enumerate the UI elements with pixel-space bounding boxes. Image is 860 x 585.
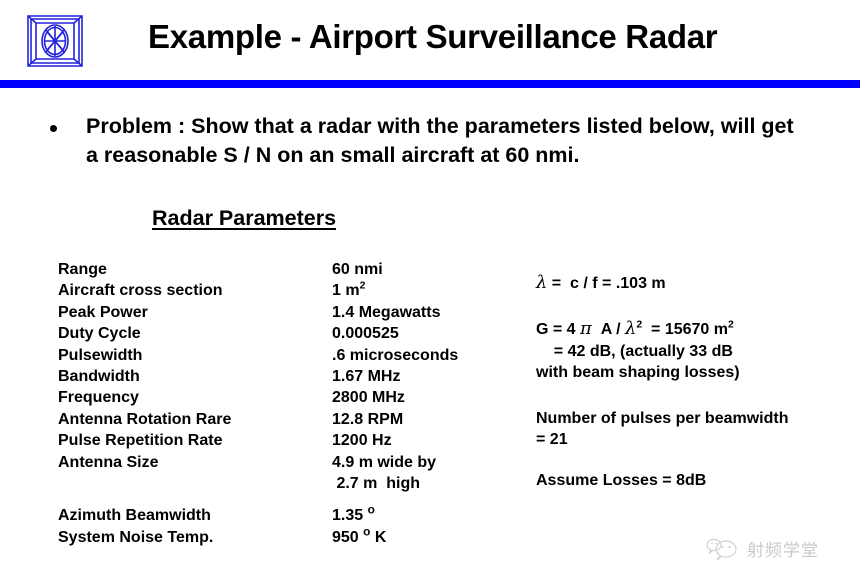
param-value: 950 o K [332, 527, 508, 548]
param-label: Antenna Rotation Rare [58, 409, 332, 430]
assumed-losses-note: Assume Losses = 8dB [536, 470, 858, 491]
watermark-label: 射频学堂 [747, 536, 819, 561]
gain-line1-pre: G = 4 [536, 321, 580, 338]
table-row: Antenna Size 4.9 m wide by [58, 452, 508, 473]
table-row: Frequency 2800 MHz [58, 387, 508, 408]
param-value-text: 950 [332, 529, 363, 546]
table-row: Pulsewidth .6 microseconds [58, 345, 508, 366]
lambda-symbol: λ [625, 318, 636, 339]
param-value: 1.35 o [332, 505, 508, 526]
wavelength-equation-text: = c / f = .103 m [547, 275, 665, 292]
calc-gap [536, 450, 858, 470]
gain-equation: G = 4 π A / λ2 = 15670 m2 [536, 318, 858, 340]
bullet-marker [50, 125, 57, 132]
param-value: 4.9 m wide by [332, 452, 508, 473]
param-label [58, 473, 332, 494]
table-row: Bandwidth 1.67 MHz [58, 366, 508, 387]
gain-unit-superscript: 2 [728, 320, 734, 331]
table-row: Aircraft cross section 1 m2 [58, 280, 508, 301]
pi-symbol: π [580, 318, 592, 339]
spacer-cell [332, 494, 508, 505]
calc-gap [536, 384, 858, 408]
table-row: Pulse Repetition Rate 1200 Hz [58, 430, 508, 451]
gain-line1-post: = 15670 m [642, 321, 728, 338]
param-value: 1.4 Megawatts [332, 302, 508, 323]
param-value: .6 microseconds [332, 345, 508, 366]
param-value-text: 1.35 [332, 507, 368, 524]
param-value: 60 nmi [332, 259, 508, 280]
degree-symbol: o [368, 503, 375, 517]
wechat-bubble-icon [706, 537, 740, 561]
param-label: Pulse Repetition Rate [58, 430, 332, 451]
slide-header: Example - Airport Surveillance Radar [0, 0, 860, 80]
calculations-column: λ = c / f = .103 m G = 4 π A / λ2 = 1567… [536, 272, 858, 492]
param-label: Range [58, 259, 332, 280]
page-title: Example - Airport Surveillance Radar [148, 18, 717, 56]
watermark: 射频学堂 [706, 536, 819, 561]
param-label: Bandwidth [58, 366, 332, 387]
param-value-superscript: 2 [360, 281, 366, 292]
lambda-symbol: λ [536, 272, 547, 293]
spacer-cell [58, 494, 332, 505]
param-label: Pulsewidth [58, 345, 332, 366]
param-label: Peak Power [58, 302, 332, 323]
param-label: Azimuth Beamwidth [58, 505, 332, 526]
table-row-continuation: 2.7 m high [58, 473, 508, 494]
gain-equation-line2: = 42 dB, (actually 33 dB [536, 341, 858, 362]
problem-statement-text: Problem : Show that a radar with the par… [86, 112, 806, 170]
table-spacer-row [58, 494, 508, 505]
radar-parameters-table: Range 60 nmi Aircraft cross section 1 m2… [58, 259, 508, 548]
table-row: Peak Power 1.4 Megawatts [58, 302, 508, 323]
calc-gap [536, 294, 858, 318]
gain-line1-mid: A / [592, 321, 625, 338]
param-value-tail: K [370, 529, 386, 546]
param-value: 1 m2 [332, 280, 508, 301]
param-label: System Noise Temp. [58, 527, 332, 548]
table-row: Duty Cycle 0.000525 [58, 323, 508, 344]
table-row: Range 60 nmi [58, 259, 508, 280]
table-row: Antenna Rotation Rare 12.8 RPM [58, 409, 508, 430]
param-label: Aircraft cross section [58, 280, 332, 301]
table-row: Azimuth Beamwidth 1.35 o [58, 505, 508, 526]
param-value: 1200 Hz [332, 430, 508, 451]
param-value: 1.67 MHz [332, 366, 508, 387]
header-divider-rule [0, 80, 860, 88]
table-row: System Noise Temp. 950 o K [58, 527, 508, 548]
pulses-per-beamwidth-note: Number of pulses per beamwidth = 21 [536, 408, 858, 451]
param-label: Duty Cycle [58, 323, 332, 344]
param-value: 0.000525 [332, 323, 508, 344]
param-label: Frequency [58, 387, 332, 408]
param-label: Antenna Size [58, 452, 332, 473]
gain-equation-line3: with beam shaping losses) [536, 362, 858, 383]
param-value-text: 1 m [332, 282, 360, 299]
section-heading-radar-parameters: Radar Parameters [152, 206, 336, 231]
wavelength-equation: λ = c / f = .103 m [536, 272, 858, 294]
param-value: 2.7 m high [332, 473, 508, 494]
param-value: 12.8 RPM [332, 409, 508, 430]
param-value: 2800 MHz [332, 387, 508, 408]
institution-emblem-logo [22, 12, 88, 70]
